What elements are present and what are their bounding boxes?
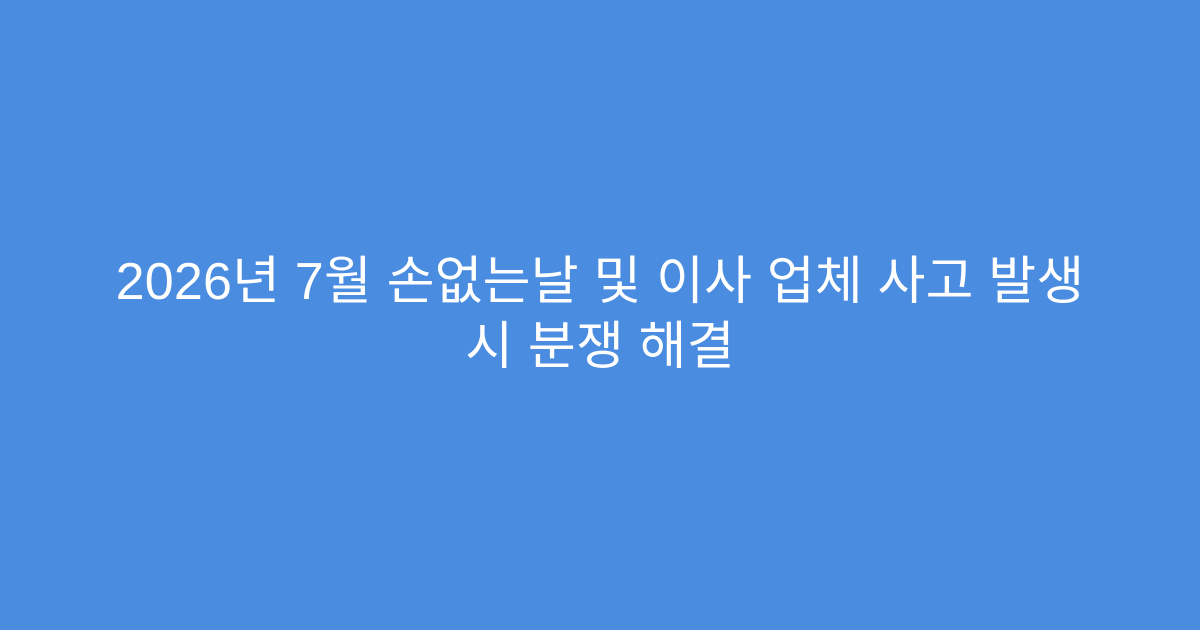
page-title: 2026년 7월 손없는날 및 이사 업체 사고 발생 시 분쟁 해결 — [90, 250, 1110, 380]
title-card: 2026년 7월 손없는날 및 이사 업체 사고 발생 시 분쟁 해결 — [0, 0, 1200, 630]
title-block: 2026년 7월 손없는날 및 이사 업체 사고 발생 시 분쟁 해결 — [70, 250, 1130, 380]
